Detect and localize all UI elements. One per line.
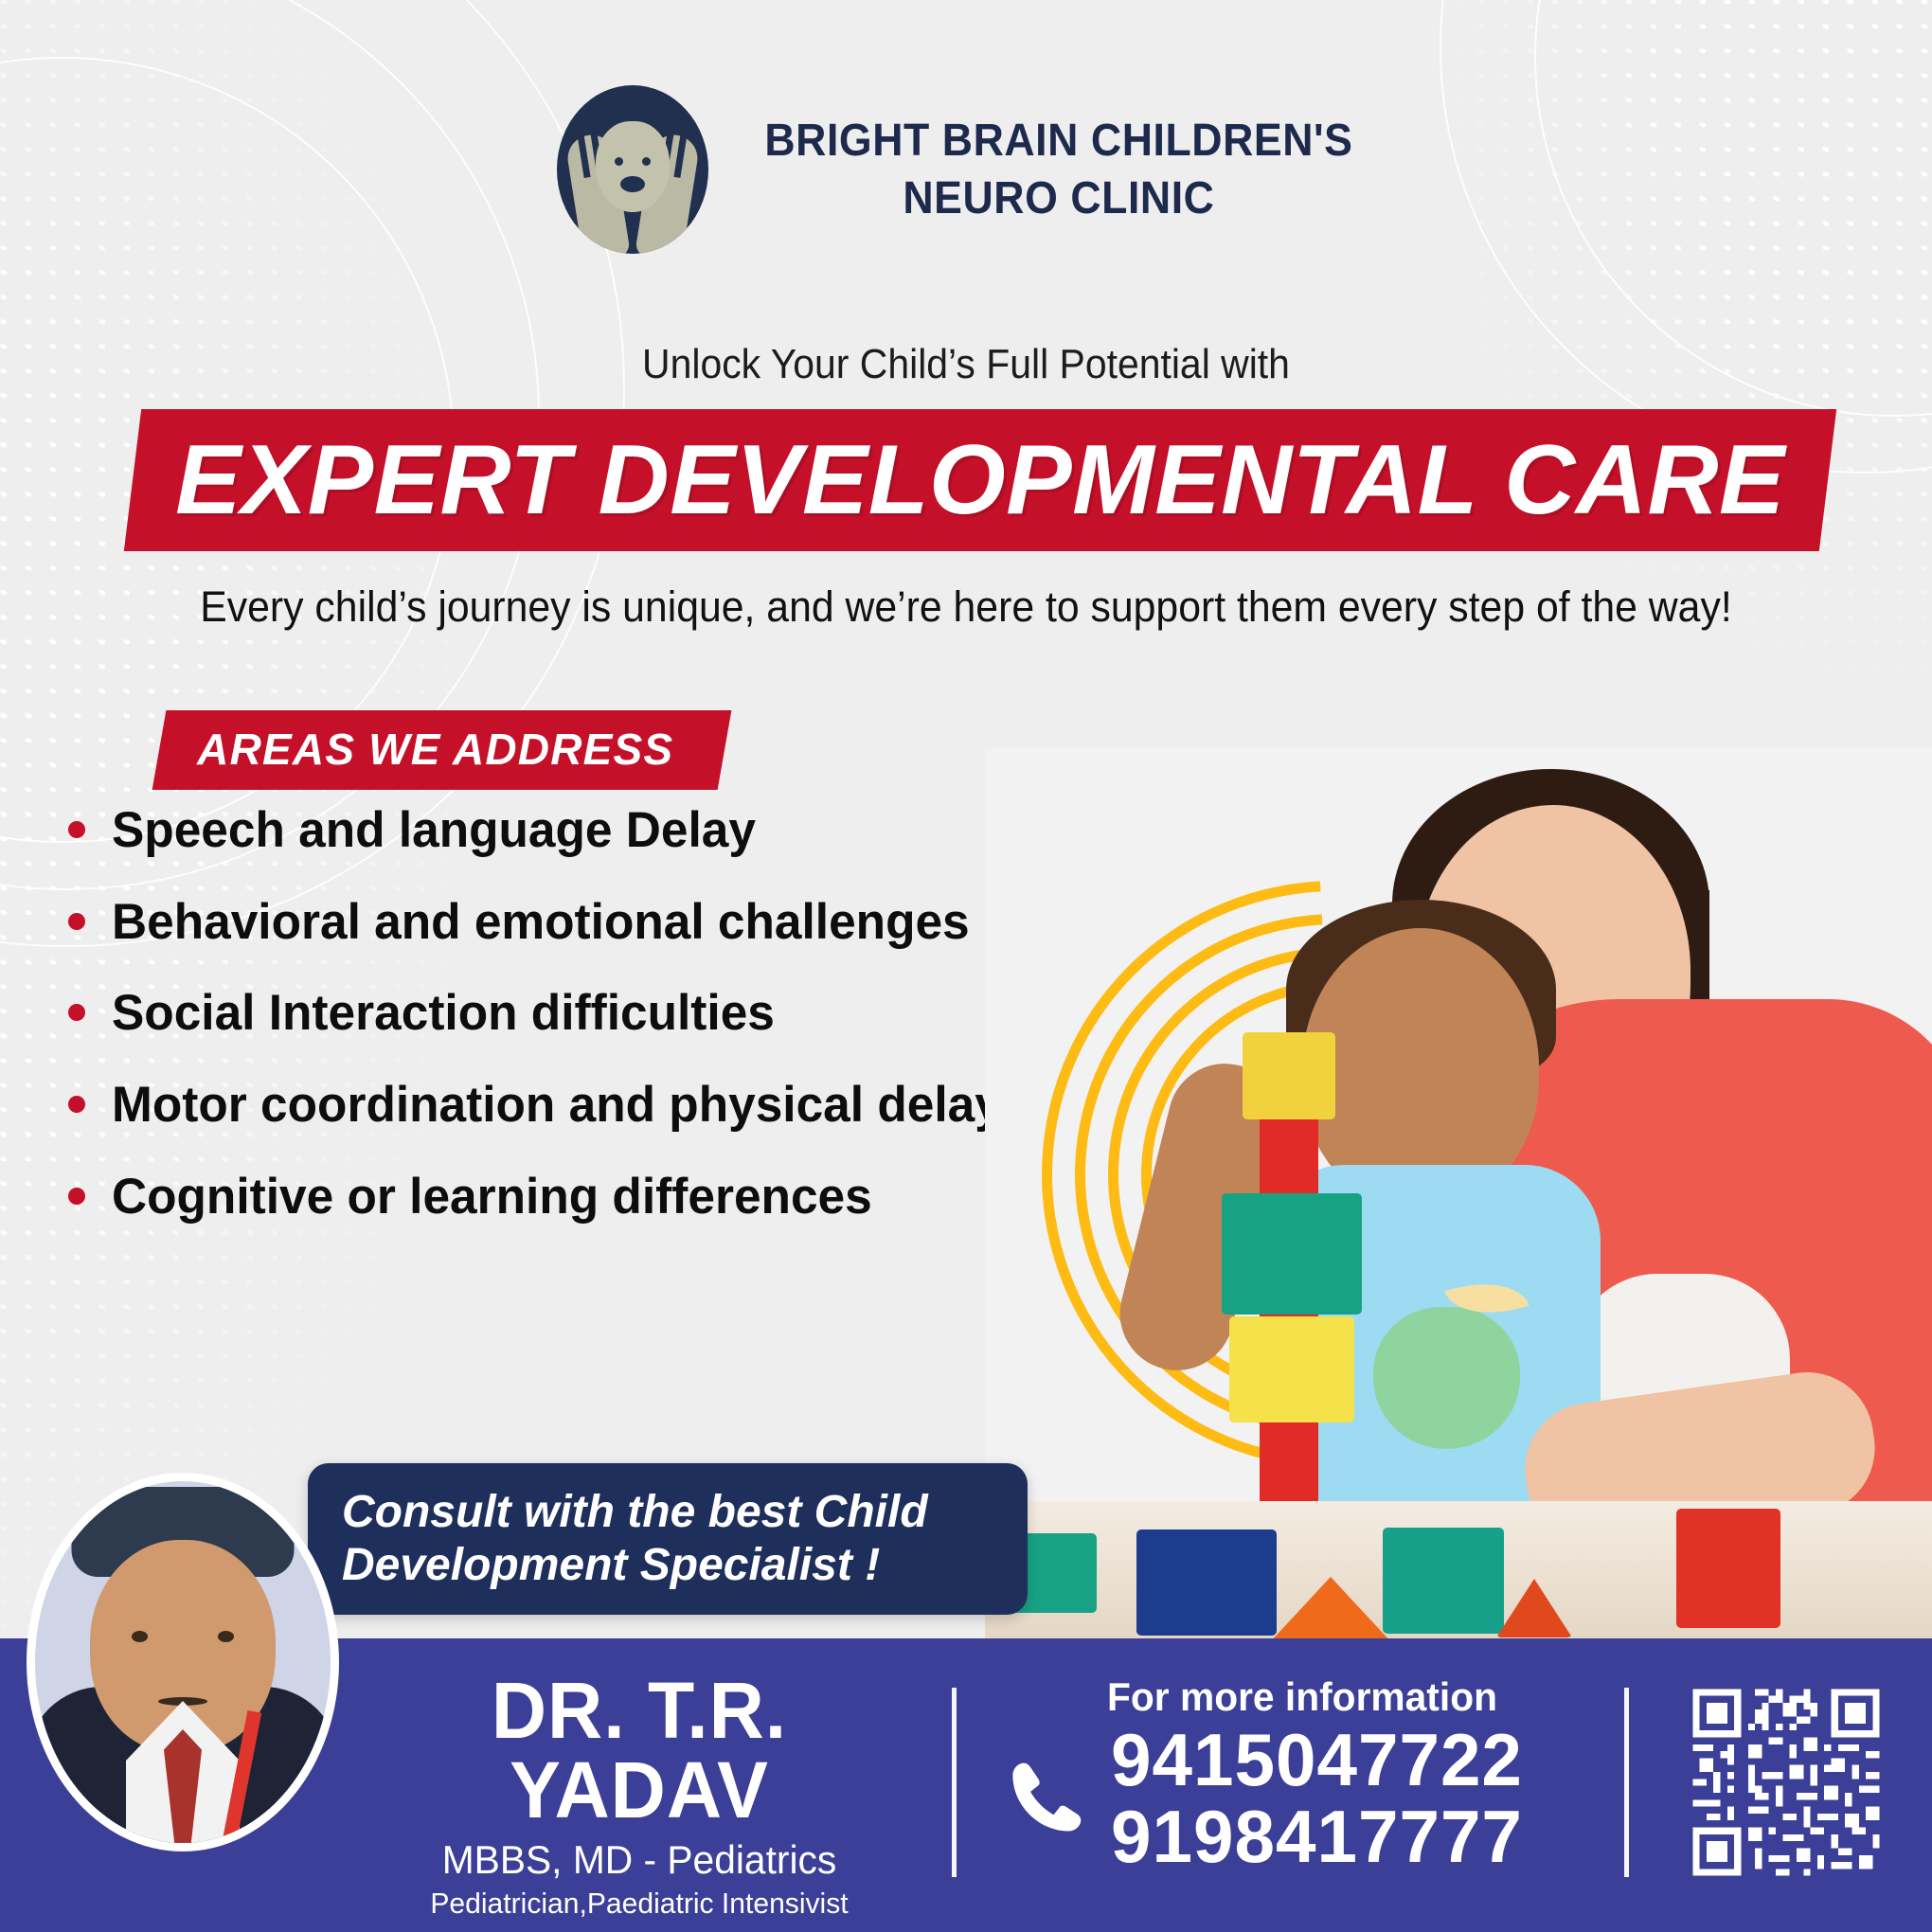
toy-block: [1243, 1032, 1335, 1119]
list-item: Motor coordination and physical delays: [68, 1075, 1091, 1136]
list-item: Behavioral and emotional challenges: [68, 892, 1091, 954]
list-item: Social Interaction difficulties: [68, 983, 1091, 1045]
contact-label: For more information: [1009, 1674, 1597, 1720]
qr-code-icon[interactable]: [1686, 1682, 1887, 1883]
clinic-name: BRIGHT BRAIN CHILDREN'S NEURO CLINIC: [764, 112, 1352, 228]
footer-bar: DR. T.R. YADAV MBBS, MD - Pediatrics Ped…: [0, 1638, 1932, 1932]
header: BRIGHT BRAIN CHILDREN'S NEURO CLINIC: [0, 85, 1932, 254]
bullet-dot-icon: [68, 1188, 85, 1205]
area-label: Cognitive or learning differences: [112, 1167, 872, 1228]
doctor-degree: MBBS, MD - Pediatrics: [382, 1837, 896, 1883]
hero-eyebrow: Unlock Your Child’s Full Potential with: [67, 341, 1864, 388]
headline-banner: EXPERT DEVELOPMENTAL CARE: [124, 409, 1836, 551]
bullet-dot-icon: [68, 913, 85, 930]
toy-block: [1229, 1316, 1354, 1422]
footer-divider: [1624, 1688, 1629, 1877]
consult-line1: Consult with the best Child: [342, 1486, 928, 1539]
child-shirt-apple-graphic: [1373, 1307, 1520, 1449]
phone-number-1[interactable]: 9415047722: [1111, 1722, 1523, 1798]
therapy-session-photo: [985, 748, 1932, 1643]
bullet-dot-icon: [68, 1004, 85, 1021]
doctor-info: DR. T.R. YADAV MBBS, MD - Pediatrics Ped…: [374, 1671, 904, 1921]
toy-block: [1136, 1529, 1277, 1636]
list-item: Cognitive or learning differences: [68, 1167, 1091, 1228]
toy-block: [1383, 1528, 1504, 1634]
areas-badge-label: AREAS WE ADDRESS: [197, 724, 673, 775]
areas-badge: AREAS WE ADDRESS: [152, 710, 732, 790]
clinic-name-line2: NEURO CLINIC: [764, 170, 1352, 227]
bullet-dot-icon: [68, 821, 85, 838]
child-in-hands-logo-icon: [557, 85, 708, 254]
doctor-role: Pediatrician,Paediatric Intensivist: [382, 1887, 896, 1921]
hero-tagline: Every child’s journey is unique, and we’…: [48, 582, 1884, 632]
footer-divider: [952, 1688, 957, 1877]
area-label: Behavioral and emotional challenges: [112, 892, 970, 954]
phone-number-2[interactable]: 9198417777: [1111, 1798, 1523, 1875]
contact-block: For more information 9415047722 91984177…: [999, 1674, 1605, 1875]
list-item: Speech and language Delay: [68, 800, 1091, 862]
area-label: Social Interaction difficulties: [112, 983, 775, 1045]
area-label: Speech and language Delay: [112, 800, 756, 862]
doctor-portrait-avatar: [27, 1473, 339, 1851]
doctor-name: DR. T.R. YADAV: [385, 1671, 894, 1830]
toy-block: [1676, 1509, 1780, 1628]
consult-text: Consult with the best Child Development …: [342, 1486, 928, 1591]
toy-block: [1222, 1193, 1362, 1315]
clinic-name-line1: BRIGHT BRAIN CHILDREN'S: [764, 112, 1352, 170]
phone-handset-icon: [999, 1747, 1086, 1850]
headline-text: EXPERT DEVELOPMENTAL CARE: [133, 409, 1828, 551]
areas-list: Speech and language Delay Behavioral and…: [68, 800, 1091, 1258]
bullet-dot-icon: [68, 1096, 85, 1113]
logo-child-face-icon: [596, 121, 670, 212]
consult-callout: Consult with the best Child Development …: [308, 1463, 1028, 1615]
consult-line2: Development Specialist !: [342, 1539, 928, 1592]
phone-numbers[interactable]: 9415047722 9198417777: [1111, 1722, 1523, 1875]
area-label: Motor coordination and physical delays: [112, 1075, 1029, 1136]
